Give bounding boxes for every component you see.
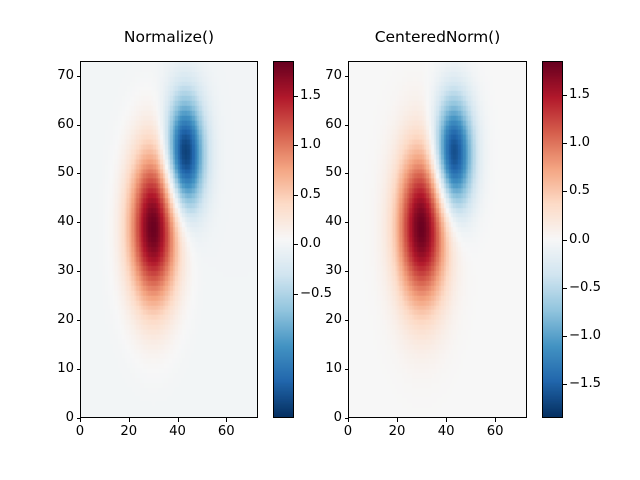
y-tick-label-centerednorm: 70 [300,69,342,82]
colorbar-gradient-centerednorm [543,62,562,417]
y-tick-label-normalize: 10 [32,362,74,375]
y-tick-label-centerednorm: 20 [300,313,342,326]
y-tick-mark-normalize [77,76,81,77]
y-tick-mark-centerednorm [345,271,349,272]
colorbar-tick-label-centerednorm: 0.5 [569,184,590,197]
colorbar-tick-label-centerednorm: 1.0 [569,136,590,149]
colorbar-tick-label-centerednorm: 1.5 [569,88,590,101]
colorbar-tick-label-normalize: 1.0 [300,138,321,151]
y-tick-label-normalize: 60 [32,118,74,131]
colorbar-tick-mark-centerednorm [563,240,567,241]
colorbar-tick-mark-centerednorm [563,384,567,385]
y-tick-mark-normalize [77,320,81,321]
y-tick-label-centerednorm: 40 [300,215,342,228]
colorbar-tick-label-centerednorm: −1.0 [569,329,601,342]
y-tick-mark-normalize [77,125,81,126]
colorbar-centerednorm [542,61,563,418]
y-tick-mark-centerednorm [345,369,349,370]
colorbar-tick-mark-centerednorm [563,95,567,96]
axes-title-centerednorm: CenteredNorm() [348,30,527,46]
y-tick-label-normalize: 0 [32,411,74,424]
colorbar-tick-label-normalize: 0.0 [300,237,321,250]
colorbar-tick-label-centerednorm: −0.5 [569,281,601,294]
x-tick-mark-normalize [226,418,227,422]
y-tick-label-normalize: 20 [32,313,74,326]
colorbar-tick-mark-centerednorm [563,336,567,337]
x-tick-mark-normalize [80,418,81,422]
y-tick-label-normalize: 40 [32,215,74,228]
x-tick-label-centerednorm: 40 [421,425,471,438]
matplotlib-figure: Normalize() 0102030405060700204060 1.51.… [0,0,640,480]
heatmap-image-centerednorm [349,62,526,417]
colorbar-tick-mark-normalize [294,244,298,245]
x-tick-mark-centerednorm [397,418,398,422]
x-tick-label-normalize: 0 [55,425,105,438]
colorbar-tick-mark-centerednorm [563,288,567,289]
y-tick-label-normalize: 70 [32,69,74,82]
y-tick-mark-centerednorm [345,76,349,77]
colorbar-tick-mark-normalize [294,96,298,97]
heatmap-axes-centerednorm [348,61,527,418]
x-tick-label-centerednorm: 0 [323,425,373,438]
y-tick-label-centerednorm: 10 [300,362,342,375]
y-tick-label-centerednorm: 0 [300,411,342,424]
y-tick-mark-normalize [77,173,81,174]
colorbar-tick-mark-centerednorm [563,191,567,192]
colorbar-tick-mark-normalize [294,145,298,146]
colorbar-tick-mark-normalize [294,195,298,196]
x-tick-mark-normalize [129,418,130,422]
y-tick-mark-normalize [77,222,81,223]
y-tick-mark-normalize [77,271,81,272]
heatmap-axes-normalize [80,61,258,418]
colorbar-tick-label-normalize: 1.5 [300,89,321,102]
axes-title-normalize: Normalize() [80,30,258,46]
colorbar-tick-mark-centerednorm [563,143,567,144]
x-tick-mark-normalize [178,418,179,422]
y-tick-label-normalize: 50 [32,166,74,179]
colorbar-normalize [273,61,294,418]
x-tick-label-normalize: 20 [104,425,154,438]
y-tick-label-centerednorm: 50 [300,166,342,179]
heatmap-image-normalize [81,62,257,417]
x-tick-mark-centerednorm [446,418,447,422]
colorbar-tick-label-centerednorm: −1.5 [569,377,601,390]
y-tick-mark-centerednorm [345,320,349,321]
colorbar-tick-label-normalize: −0.5 [300,287,332,300]
x-tick-label-normalize: 40 [153,425,203,438]
x-tick-mark-centerednorm [348,418,349,422]
y-tick-label-normalize: 30 [32,264,74,277]
colorbar-tick-mark-normalize [294,294,298,295]
x-tick-label-centerednorm: 20 [372,425,422,438]
y-tick-label-centerednorm: 60 [300,118,342,131]
colorbar-tick-label-normalize: 0.5 [300,188,321,201]
y-tick-mark-centerednorm [345,125,349,126]
colorbar-tick-label-centerednorm: 0.0 [569,233,590,246]
y-tick-mark-centerednorm [345,222,349,223]
y-tick-mark-centerednorm [345,173,349,174]
x-tick-mark-centerednorm [495,418,496,422]
x-tick-label-normalize: 60 [201,425,251,438]
y-tick-mark-normalize [77,369,81,370]
colorbar-gradient-normalize [274,62,293,417]
x-tick-label-centerednorm: 60 [470,425,520,438]
y-tick-label-centerednorm: 30 [300,264,342,277]
